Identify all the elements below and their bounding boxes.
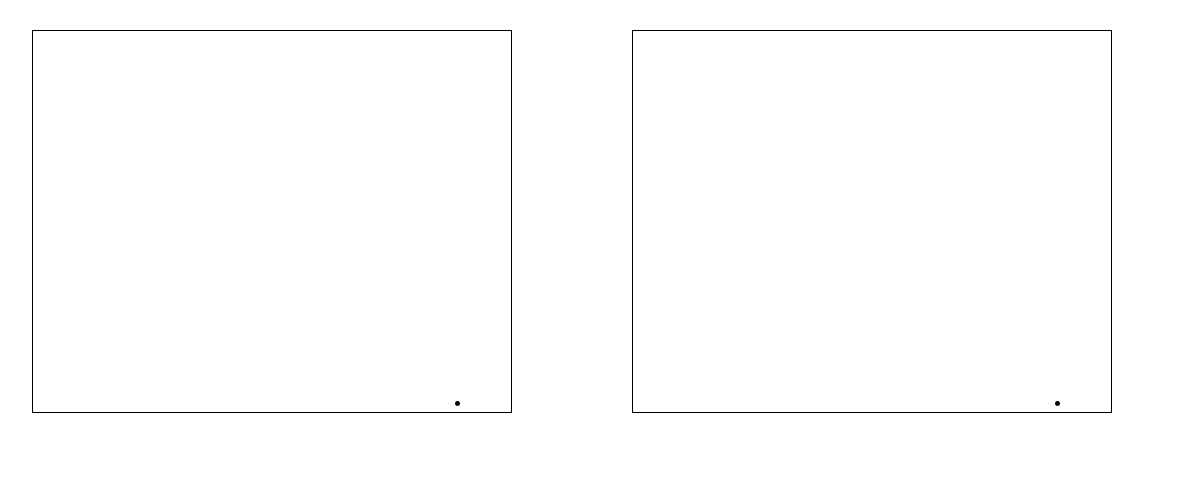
figure-root [0, 0, 1200, 502]
aqs-legend-dot [1055, 401, 1060, 406]
aqs-monitor-points-obs[interactable] [33, 31, 511, 412]
aqs-monitor-points-bias[interactable] [633, 31, 1111, 412]
panel-model [0, 0, 600, 502]
left-legend [455, 396, 467, 408]
aqs-legend-dot [455, 401, 460, 406]
left-colorbar [528, 40, 541, 410]
panel-bias [600, 0, 1200, 502]
left-map-plot [32, 30, 512, 413]
right-map-plot [632, 30, 1112, 413]
right-colorbar [1128, 40, 1141, 410]
right-legend [1055, 396, 1067, 408]
